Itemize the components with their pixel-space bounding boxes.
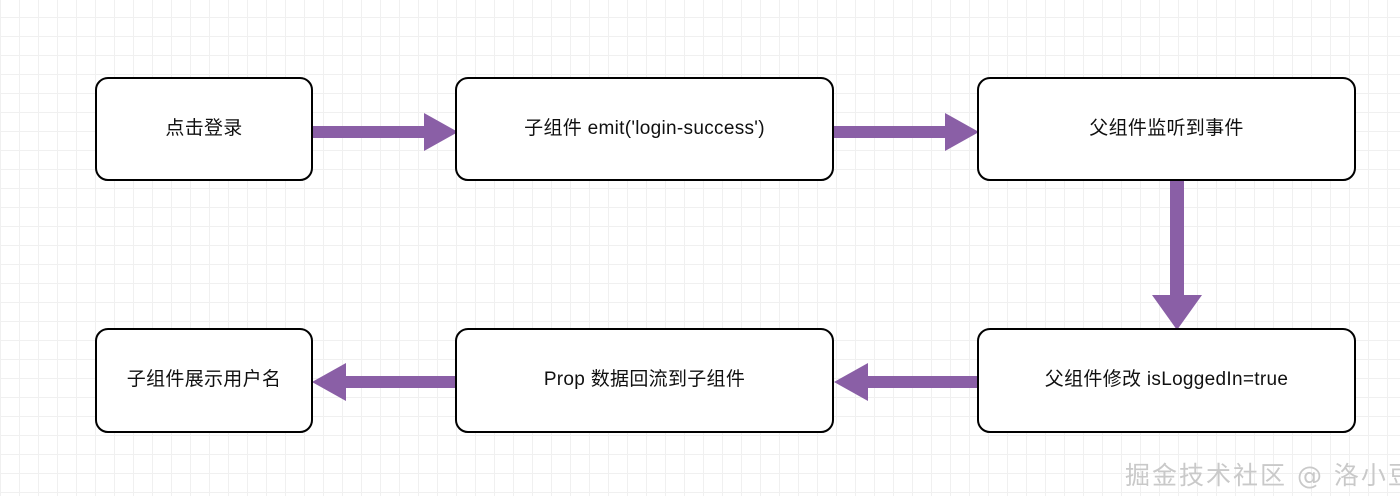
arrow-right-icon xyxy=(312,113,458,151)
node-label: 点击登录 xyxy=(165,117,242,142)
node-label: 子组件展示用户名 xyxy=(127,368,281,393)
node-click-login[interactable]: 点击登录 xyxy=(95,77,313,181)
node-parent-listen[interactable]: 父组件监听到事件 xyxy=(977,77,1356,181)
edge-prop-backflow-to-child-display xyxy=(312,355,458,409)
arrow-left-icon xyxy=(312,363,458,401)
node-prop-backflow[interactable]: Prop 数据回流到子组件 xyxy=(455,328,834,433)
edge-child-emit-to-parent-listen xyxy=(833,105,979,159)
arrow-left-icon xyxy=(834,363,980,401)
node-child-display[interactable]: 子组件展示用户名 xyxy=(95,328,313,433)
node-label: 父组件修改 isLoggedIn=true xyxy=(1045,368,1288,393)
node-parent-update[interactable]: 父组件修改 isLoggedIn=true xyxy=(977,328,1356,433)
node-label: 父组件监听到事件 xyxy=(1089,117,1243,142)
diagram-canvas: 点击登录 子组件 emit('login-success') 父组件监听到事件 … xyxy=(0,0,1400,496)
arrow-right-icon xyxy=(833,113,979,151)
watermark: 掘金技术社区 @ 洛小豆 xyxy=(1125,456,1400,492)
edge-click-login-to-child-emit xyxy=(312,105,458,159)
edge-parent-listen-to-parent-update xyxy=(1145,180,1209,330)
watermark-text: 掘金技术社区 @ 洛小豆 xyxy=(1125,461,1400,490)
node-label: Prop 数据回流到子组件 xyxy=(544,368,745,393)
edge-parent-update-to-prop-backflow xyxy=(834,355,980,409)
arrow-down-icon xyxy=(1152,180,1202,330)
node-label: 子组件 emit('login-success') xyxy=(524,117,765,142)
node-child-emit[interactable]: 子组件 emit('login-success') xyxy=(455,77,834,181)
